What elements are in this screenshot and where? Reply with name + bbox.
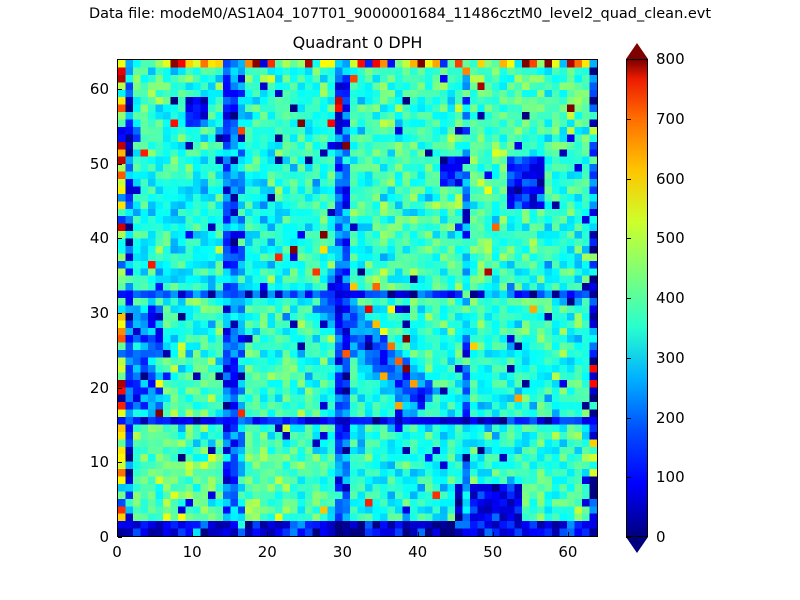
y-tick-label: 60 — [71, 80, 109, 98]
y-tick-mark — [118, 89, 122, 90]
colorbar-over-arrow-icon — [626, 43, 648, 59]
y-tick-mark — [118, 537, 122, 538]
y-tick-label: 10 — [71, 453, 109, 471]
colorbar-under-arrow-icon — [626, 537, 648, 553]
x-tick-mark — [267, 532, 268, 536]
colorbar-tick-mark — [626, 238, 631, 239]
x-tick-mark — [342, 532, 343, 536]
colorbar-tick-label: 200 — [656, 409, 685, 427]
y-tick-label: 50 — [71, 155, 109, 173]
x-tick-mark — [493, 532, 494, 536]
x-tick-mark — [192, 532, 193, 536]
colorbar-tick-label: 700 — [656, 110, 685, 128]
colorbar-tick-label: 100 — [656, 468, 685, 486]
y-tick-mark — [118, 388, 122, 389]
y-tick-mark — [118, 462, 122, 463]
x-tick-label: 40 — [408, 543, 427, 561]
y-tick-label: 0 — [71, 528, 109, 546]
colorbar-tick-mark — [626, 537, 631, 538]
y-tick-mark — [118, 313, 122, 314]
y-tick-label: 30 — [71, 304, 109, 322]
x-tick-mark — [568, 532, 569, 536]
colorbar-tick-label: 600 — [656, 170, 685, 188]
detector-heatmap-image[interactable] — [118, 60, 597, 536]
colorbar-tick-label: 0 — [656, 528, 666, 546]
colorbar-tick-mark — [626, 179, 631, 180]
y-tick-mark — [118, 164, 122, 165]
x-tick-label: 20 — [258, 543, 277, 561]
y-tick-mark — [118, 238, 122, 239]
x-tick-mark — [117, 532, 118, 536]
x-tick-label: 10 — [183, 543, 202, 561]
colorbar-tick-mark — [626, 119, 631, 120]
heatmap-axes[interactable] — [117, 59, 598, 537]
colorbar-tick-label: 500 — [656, 229, 685, 247]
colorbar-tick-label: 400 — [656, 289, 685, 307]
x-tick-mark — [418, 532, 419, 536]
y-tick-label: 20 — [71, 379, 109, 397]
colorbar-tick-label: 800 — [656, 50, 685, 68]
figure-canvas: Data file: modeM0/AS1A04_107T01_90000016… — [0, 0, 800, 600]
colorbar-tick-mark — [626, 477, 631, 478]
data-file-suptitle: Data file: modeM0/AS1A04_107T01_90000016… — [0, 6, 800, 22]
y-tick-label: 40 — [71, 229, 109, 247]
x-tick-label: 0 — [112, 543, 122, 561]
colorbar-tick-mark — [626, 59, 631, 60]
colorbar-tick-mark — [626, 418, 631, 419]
colorbar-tick-mark — [626, 298, 631, 299]
colorbar[interactable]: 0100200300400500600700800 — [626, 59, 648, 537]
x-tick-label: 30 — [333, 543, 352, 561]
colorbar-tick-label: 300 — [656, 349, 685, 367]
plot-title: Quadrant 0 DPH — [117, 33, 598, 52]
x-tick-label: 60 — [558, 543, 577, 561]
colorbar-tick-mark — [626, 358, 631, 359]
x-tick-label: 50 — [483, 543, 502, 561]
